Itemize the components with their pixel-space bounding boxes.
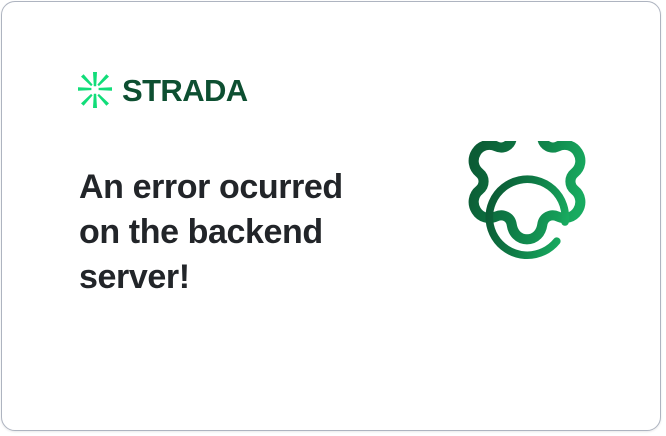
strada-asterisk-icon	[78, 72, 112, 108]
error-card: STRADA An error ocurred on the backend s…	[1, 1, 661, 431]
brand-wordmark: STRADA	[122, 75, 248, 106]
brand-logo: STRADA	[78, 72, 248, 108]
error-message: An error ocurred on the backend server!	[79, 165, 379, 300]
gear-icon	[446, 141, 608, 303]
